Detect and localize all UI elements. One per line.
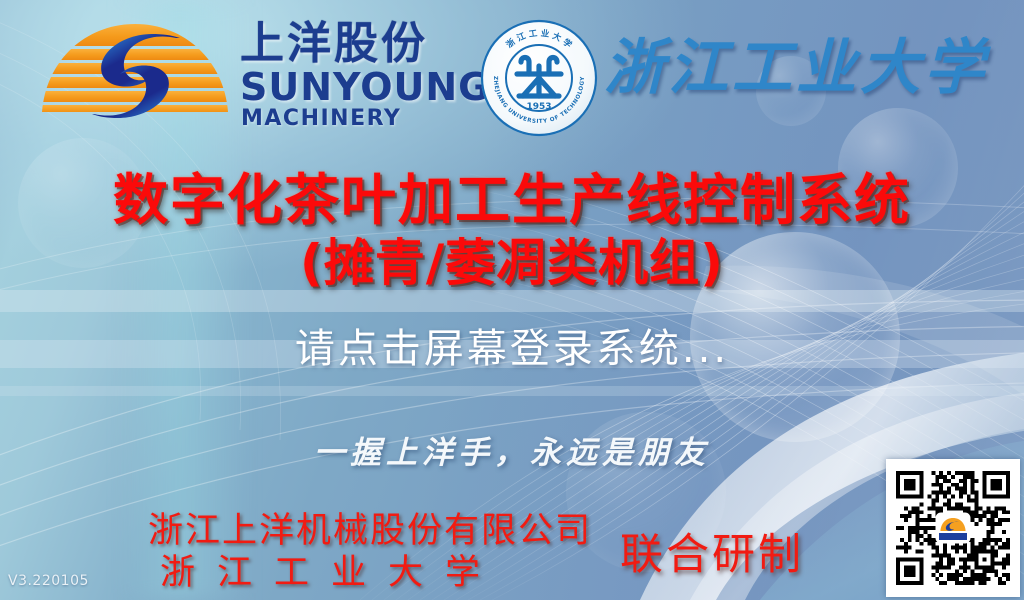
seal-year-text: 1953 <box>526 102 551 112</box>
brand-name-cn: 上洋股份 <box>240 22 428 66</box>
version-label: V3.220105 <box>8 573 89 589</box>
company-name-line2: 浙江工业大学 <box>160 544 502 595</box>
zhejiang-university-of-technology-seal: 浙 江 工 业 大 学 ZHEJIANG UNIVERSITY OF TECHN… <box>477 16 601 140</box>
university-name-calligraphy: 浙江工业大学 <box>604 34 988 103</box>
jointly-developed-label: 联合研制 <box>620 520 804 582</box>
page-title-line2: (摊青/萎凋类机组) <box>0 223 1024 295</box>
login-prompt[interactable]: 请点击屏幕登录系统... <box>0 316 1024 374</box>
brand-name-en-sub: MACHINERY <box>241 108 401 130</box>
qr-code[interactable] <box>886 459 1020 597</box>
sunyoung-sun-wave-logo <box>30 16 240 136</box>
company-slogan: 一握上洋手，永远是朋友 <box>0 427 1024 472</box>
brand-name-en: SUNYOUNG <box>240 68 490 106</box>
sunyoung-mini-logo <box>937 514 969 542</box>
splash-screen[interactable]: 上洋股份 SUNYOUNG MACHINERY 浙 江 工 业 大 <box>0 0 1024 600</box>
